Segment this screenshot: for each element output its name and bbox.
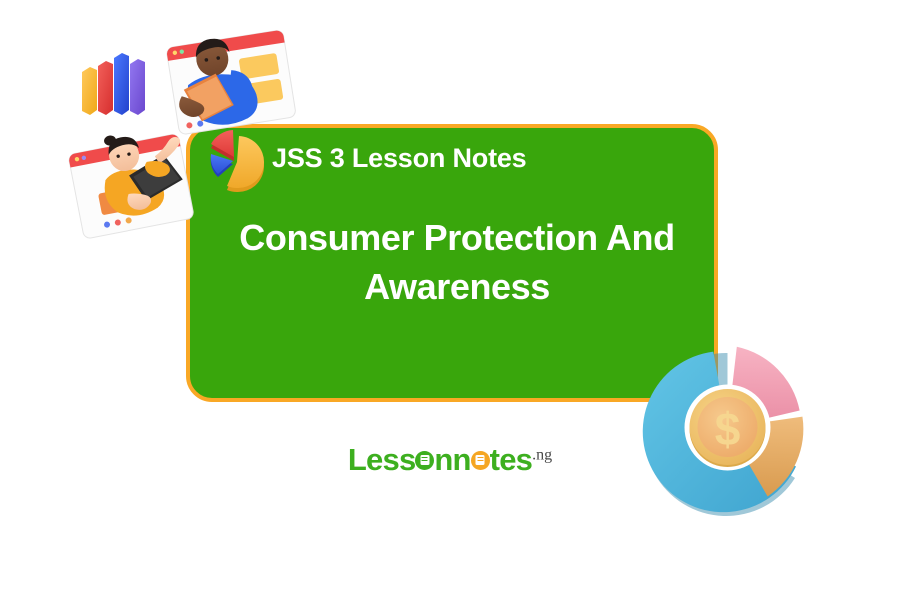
card-title-line-2: Awareness xyxy=(212,263,702,312)
brand-logo[interactable]: Lessnntes.ng xyxy=(0,444,900,475)
donut-chart-decoration: $ xyxy=(630,330,825,525)
card-eyebrow: JSS 3 Lesson Notes xyxy=(272,142,527,174)
bar-chart-decoration xyxy=(82,53,145,115)
logo-text-part-1: Less xyxy=(348,442,415,477)
logo-text-part-3: tes xyxy=(490,442,532,477)
logo-note-icon-green xyxy=(415,451,434,470)
logo-note-icon-gold xyxy=(471,451,490,470)
logo-tld-suffix: .ng xyxy=(532,447,552,464)
thumbnail-canvas: JSS 3 Lesson Notes Consumer Protection A… xyxy=(0,0,900,600)
logo-text-part-2: nn xyxy=(434,442,470,477)
analytics-illustration xyxy=(68,26,298,241)
